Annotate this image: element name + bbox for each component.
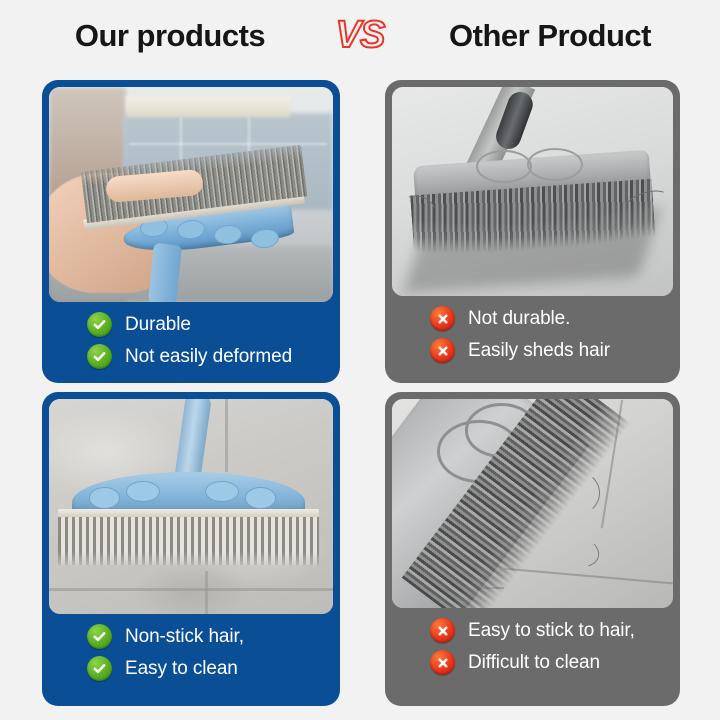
bullet-item: Not durable. <box>430 306 673 331</box>
bullet-item: Durable <box>87 312 333 337</box>
other-product-title: Other Product <box>400 18 700 54</box>
bullet-list-ours-top: Durable Not easily deformed <box>49 302 333 383</box>
check-circle-icon <box>87 344 112 369</box>
card-other-top: Not durable. Easily sheds hair <box>385 80 680 383</box>
check-circle-icon <box>87 624 112 649</box>
bullet-label: Not easily deformed <box>125 346 292 368</box>
bullet-label: Difficult to clean <box>468 652 600 674</box>
card-other-bottom: Easy to stick to hair, Difficult to clea… <box>385 392 680 706</box>
cross-circle-icon <box>430 650 455 675</box>
bullet-item: Easily sheds hair <box>430 338 673 363</box>
gray-bristle-broom-head-photo <box>392 87 673 296</box>
gray-broom-bristles-with-hair-on-tile-photo <box>392 399 673 608</box>
cross-circle-icon <box>430 338 455 363</box>
blue-brush-on-tile-floor-photo <box>49 399 333 614</box>
comparison-grid: Durable Not easily deformed <box>42 80 680 706</box>
bullet-item: Not easily deformed <box>87 344 333 369</box>
bullet-item: Easy to clean <box>87 656 333 681</box>
bullet-label: Easy to stick to hair, <box>468 620 635 642</box>
bullet-list-ours-bottom: Non-stick hair, Easy to clean <box>49 614 333 706</box>
bullet-label: Easily sheds hair <box>468 340 610 362</box>
check-circle-icon <box>87 312 112 337</box>
bullet-list-other-top: Not durable. Easily sheds hair <box>392 296 673 383</box>
vs-badge: VS <box>320 16 400 54</box>
cross-circle-icon <box>430 306 455 331</box>
card-ours-bottom: Non-stick hair, Easy to clean <box>42 392 340 706</box>
bullet-label: Non-stick hair, <box>125 626 244 648</box>
hand-holding-blue-silicone-brush-photo <box>49 87 333 302</box>
cross-circle-icon <box>430 618 455 643</box>
bullet-label: Not durable. <box>468 308 570 330</box>
bullet-item: Difficult to clean <box>430 650 673 675</box>
bullet-label: Easy to clean <box>125 658 238 680</box>
bullet-item: Easy to stick to hair, <box>430 618 673 643</box>
bullet-item: Non-stick hair, <box>87 624 333 649</box>
comparison-header: Our products VS Other Product <box>0 0 720 72</box>
check-circle-icon <box>87 656 112 681</box>
card-ours-top: Durable Not easily deformed <box>42 80 340 383</box>
our-products-title: Our products <box>20 18 320 54</box>
bullet-list-other-bottom: Easy to stick to hair, Difficult to clea… <box>392 608 673 706</box>
bullet-label: Durable <box>125 314 191 336</box>
